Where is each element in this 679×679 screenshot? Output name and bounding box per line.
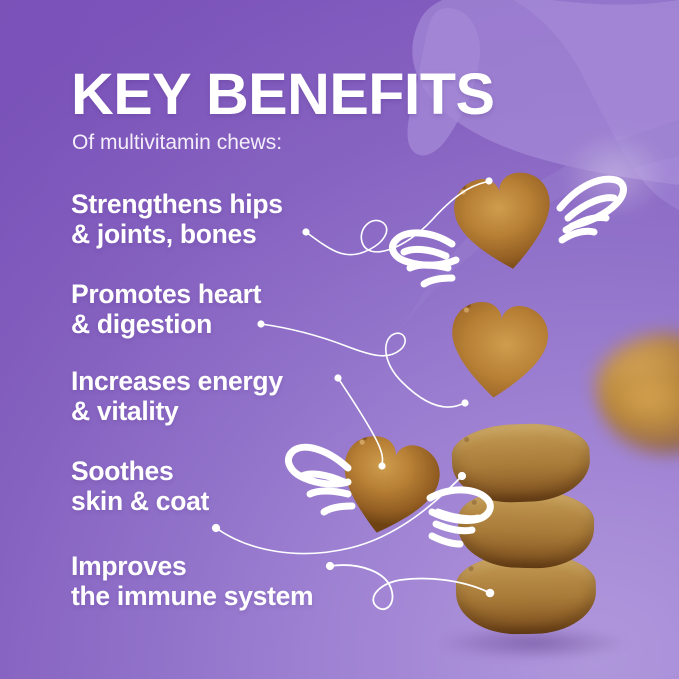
connector-line-5 [330, 565, 488, 609]
wing-top-left [392, 233, 456, 284]
connector-dot-1-text [303, 229, 309, 235]
connector-dot-4-text [212, 524, 219, 531]
wing-top-right [560, 179, 624, 240]
wing-left-chew-left [288, 447, 352, 512]
connector-line-2 [261, 324, 462, 407]
connector-dot-5-text [326, 562, 333, 569]
connector-dot-1-chew [486, 178, 492, 184]
line-art-layer [0, 0, 679, 679]
connector-line-3 [338, 378, 383, 464]
connector-dot-2-chew [462, 400, 468, 406]
connector-dot-4-chew [458, 472, 465, 479]
connector-dot-3-text [335, 375, 341, 381]
connector-dot-5-chew [486, 589, 494, 597]
connector-dot-2-text [258, 321, 264, 327]
connector-dot-3-chew [379, 463, 385, 469]
key-benefits-infographic: KEY BENEFITS Of multivitamin chews: Stre… [0, 0, 679, 679]
